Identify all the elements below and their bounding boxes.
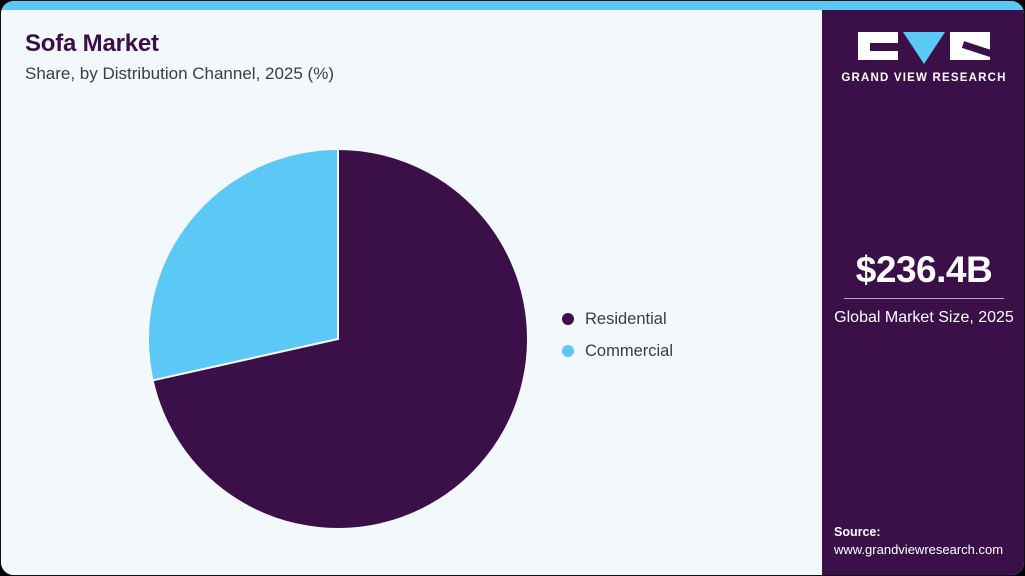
logo-marks [822, 32, 1025, 64]
logo-wordmark: GRAND VIEW RESEARCH [822, 72, 1025, 84]
chart-legend: Residential Commercial [562, 303, 812, 367]
source-block: Source: www.grandviewresearch.com [834, 524, 1025, 559]
logo-v-triangle-icon [903, 32, 945, 64]
legend-label-residential: Residential [585, 310, 667, 329]
legend-label-commercial: Commercial [585, 342, 673, 361]
legend-item-residential[interactable]: Residential [562, 303, 812, 335]
source-url[interactable]: www.grandviewresearch.com [834, 541, 1025, 559]
legend-swatch-residential [562, 313, 574, 325]
grand-view-research-logo: GRAND VIEW RESEARCH [822, 32, 1025, 84]
pie-chart [1, 10, 822, 576]
chart-card: Sofa Market Share, by Distribution Chann… [0, 0, 1025, 576]
source-title: Source: [834, 524, 1025, 541]
logo-r-icon [950, 32, 990, 60]
pie-chart-svg [1, 10, 822, 576]
brand-sidebar: GRAND VIEW RESEARCH $236.4B Global Marke… [822, 10, 1025, 576]
top-accent-bar [1, 1, 1025, 10]
stat-divider [844, 298, 1004, 299]
market-size-label: Global Market Size, 2025 [822, 307, 1025, 328]
logo-g-icon [858, 32, 898, 60]
market-size-value: $236.4B [822, 248, 1025, 292]
legend-item-commercial[interactable]: Commercial [562, 335, 812, 367]
market-size-stat: $236.4B Global Market Size, 2025 [822, 248, 1025, 328]
chart-main-panel: Sofa Market Share, by Distribution Chann… [1, 10, 822, 576]
legend-swatch-commercial [562, 345, 574, 357]
